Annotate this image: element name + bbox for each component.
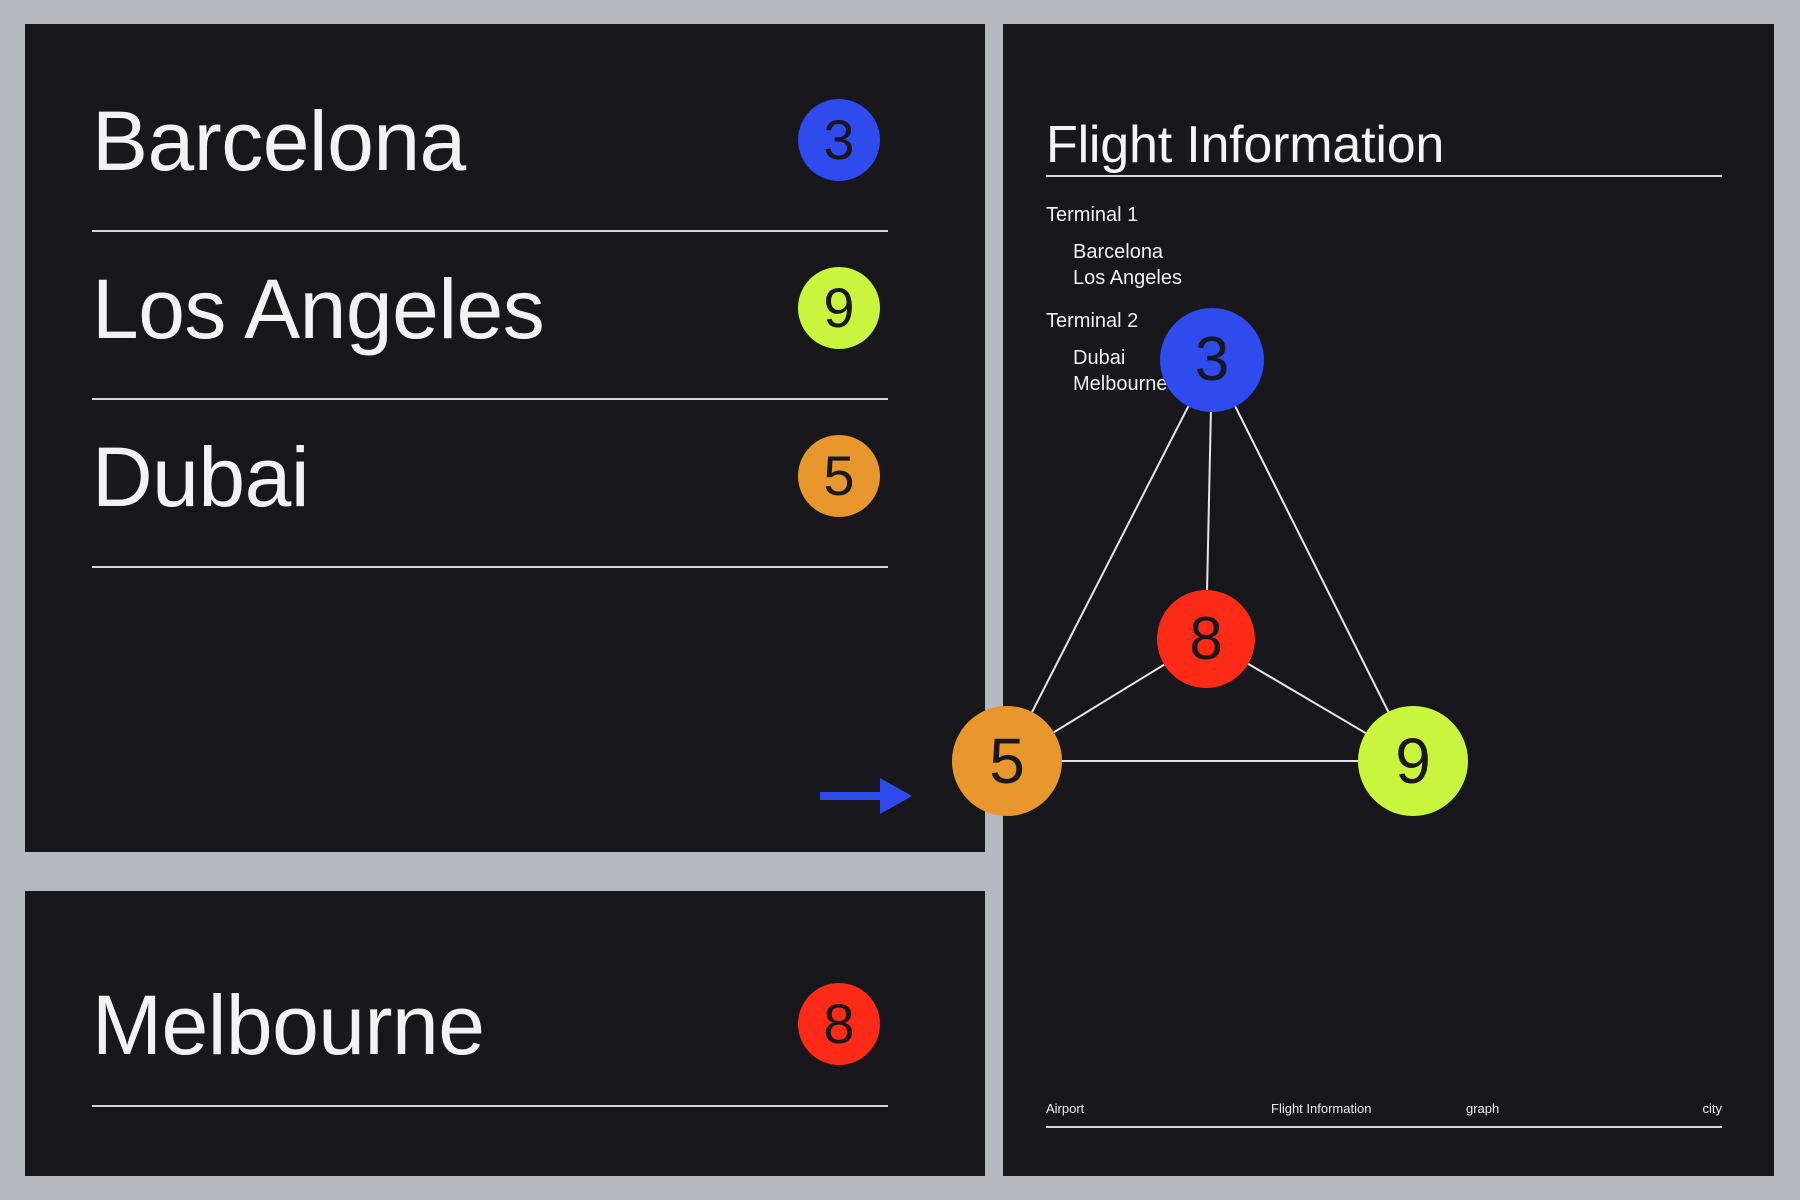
poster-canvas: Barcelona 3 Los Angeles 9 Dubai 5 Melbou… — [0, 0, 1800, 1200]
highlight-list: Melbourne 8 — [92, 957, 888, 1107]
highlight-card: Melbourne 8 — [25, 891, 985, 1176]
departure-city-name: Los Angeles — [92, 267, 544, 363]
departures-list: Barcelona 3 Los Angeles 9 Dubai 5 — [92, 64, 888, 568]
terminal-name: Terminal 2 — [1046, 308, 1466, 335]
departure-row[interactable]: Los Angeles 9 — [92, 232, 888, 400]
panel-footer: Airport Flight Information graph city — [1046, 1093, 1722, 1128]
graph-node-3[interactable]: 3 — [1160, 308, 1264, 412]
highlight-row[interactable]: Melbourne 8 — [92, 957, 888, 1107]
highlight-gate-badge[interactable]: 8 — [798, 983, 880, 1065]
terminal-name: Terminal 1 — [1046, 202, 1466, 229]
departure-city-name: Barcelona — [92, 99, 466, 195]
footer-items: Airport Flight Information graph city — [1046, 1093, 1722, 1115]
terminal-city: Dubai — [1073, 345, 1466, 371]
footer-divider — [1046, 1126, 1722, 1128]
departure-city-name: Dubai — [92, 435, 309, 531]
footer-item-airport[interactable]: Airport — [1046, 1102, 1084, 1115]
graph-node-5[interactable]: 5 — [952, 706, 1062, 816]
panel-title: Flight Information — [1046, 119, 1444, 171]
footer-item-graph[interactable]: graph — [1466, 1102, 1499, 1115]
flight-information-panel: Flight Information Terminal 1 Barcelona … — [1003, 24, 1774, 1176]
terminal-city: Barcelona — [1073, 239, 1466, 265]
departure-gate-badge[interactable]: 3 — [798, 99, 880, 181]
departure-row[interactable]: Barcelona 3 — [92, 64, 888, 232]
departure-gate-badge[interactable]: 9 — [798, 267, 880, 349]
flight-graph-edges — [1003, 24, 1774, 1176]
departures-card: Barcelona 3 Los Angeles 9 Dubai 5 — [25, 24, 985, 852]
footer-item-city[interactable]: city — [1703, 1102, 1723, 1115]
arrow-right-icon[interactable] — [820, 776, 912, 816]
footer-item-flight-information[interactable]: Flight Information — [1271, 1102, 1371, 1115]
highlight-city-name: Melbourne — [92, 983, 484, 1079]
departure-row[interactable]: Dubai 5 — [92, 400, 888, 568]
terminal-group: Terminal 1 Barcelona Los Angeles — [1046, 202, 1466, 292]
title-divider — [1046, 175, 1722, 177]
terminal-city: Los Angeles — [1073, 265, 1466, 291]
graph-node-9[interactable]: 9 — [1358, 706, 1468, 816]
terminal-city: Melbourne — [1073, 371, 1466, 397]
departure-gate-badge[interactable]: 5 — [798, 435, 880, 517]
graph-node-8[interactable]: 8 — [1157, 590, 1255, 688]
